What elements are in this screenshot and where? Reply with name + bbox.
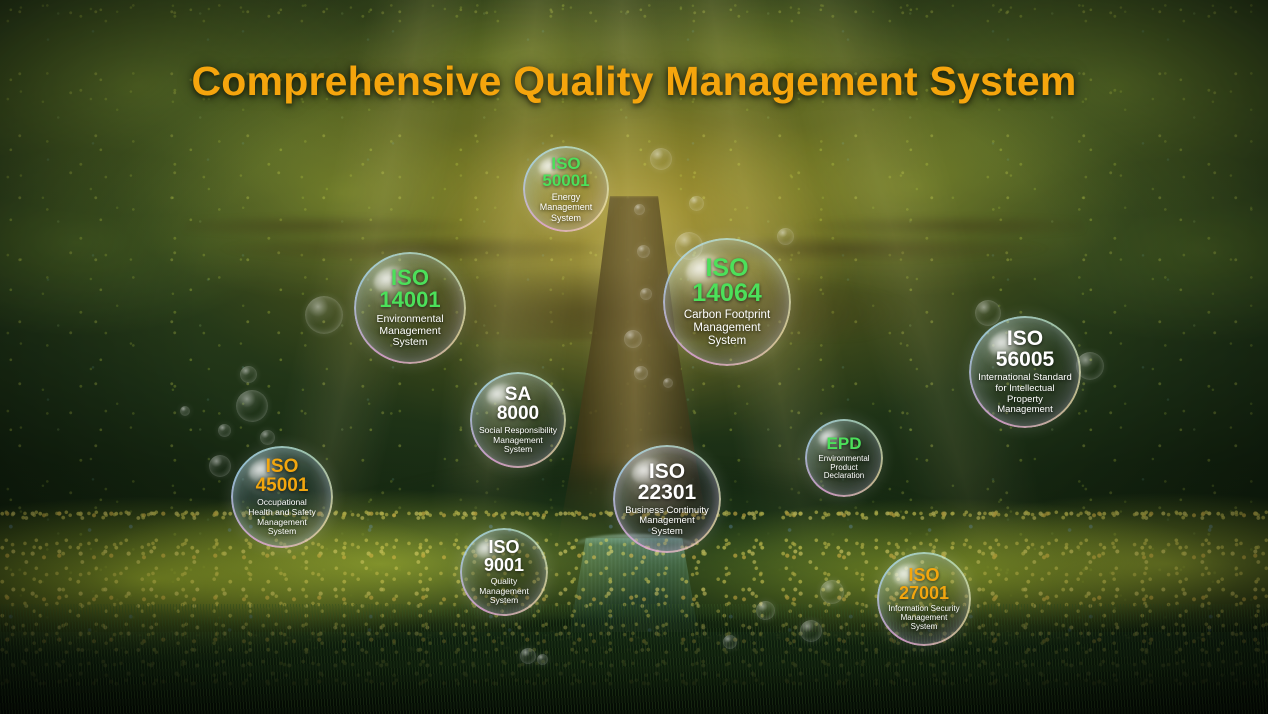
bubble-code: ISO45001 [256, 457, 309, 495]
decorative-bubble [777, 228, 794, 245]
decorative-bubble [218, 424, 231, 437]
decorative-bubble [236, 390, 268, 422]
bubble-code: ISO22301 [638, 461, 696, 503]
page-title: Comprehensive Quality Management System [0, 58, 1268, 105]
bubble-iso-27001[interactable]: ISO27001 Information Security Management… [877, 552, 971, 646]
decorative-bubble [634, 204, 645, 215]
bubble-code: ISO27001 [899, 566, 949, 602]
bubble-sa-8000[interactable]: SA8000 Social Responsibility Management … [470, 372, 566, 468]
decorative-bubble [260, 430, 275, 445]
decorative-bubble [820, 580, 844, 604]
bubble-description: International Standard for Intellectual … [972, 373, 1077, 416]
bubble-iso-14001[interactable]: ISO14001 Environmental Management System [354, 252, 466, 364]
bubble-iso-50001[interactable]: ISO50001 Energy Management System [523, 146, 609, 232]
bubble-iso-14064[interactable]: ISO14064 Carbon Footprint Management Sys… [663, 238, 791, 366]
decorative-bubble [756, 601, 775, 620]
bubble-description: Occupational Health and Safety Managemen… [242, 498, 322, 536]
bubble-epd[interactable]: EPD Environmental Product Declaration [805, 419, 883, 497]
infographic-scene: Comprehensive Quality Management System … [0, 0, 1268, 714]
bubble-code: ISO14064 [692, 256, 762, 306]
bubble-description: Carbon Footprint Management System [678, 309, 776, 348]
decorative-bubble [537, 654, 548, 665]
bubble-code: EPD [827, 435, 862, 452]
decorative-bubble [637, 245, 650, 258]
decorative-bubble [640, 288, 652, 300]
bubble-iso-56005[interactable]: ISO56005 International Standard for Inte… [969, 316, 1081, 428]
bubble-description: Social Responsibility Management System [473, 426, 563, 455]
bubble-description: Business Continuity Management System [619, 506, 714, 538]
foreground-grass [0, 604, 1268, 714]
decorative-bubble [800, 620, 822, 642]
decorative-bubble [624, 330, 642, 348]
bubble-description: Information Security Management System [882, 605, 965, 632]
bubble-description: Environmental Product Declaration [812, 455, 875, 482]
bubble-iso-45001[interactable]: ISO45001 Occupational Health and Safety … [231, 446, 333, 548]
bubble-iso-9001[interactable]: ISO9001 Quality Management System [460, 528, 548, 616]
decorative-bubble [650, 148, 672, 170]
bubble-code: ISO14001 [379, 267, 440, 311]
decorative-bubble [180, 406, 190, 416]
bubble-description: Quality Management System [473, 577, 535, 606]
bubble-iso-22301[interactable]: ISO22301 Business Continuity Management … [613, 445, 721, 553]
bubble-code: ISO56005 [996, 328, 1054, 370]
bubble-code: ISO50001 [542, 155, 589, 189]
bubble-code: ISO9001 [484, 538, 524, 574]
decorative-bubble [520, 648, 536, 664]
decorative-bubble [305, 296, 343, 334]
decorative-bubble [663, 378, 673, 388]
bubble-description: Energy Management System [534, 192, 599, 222]
decorative-bubble [209, 455, 231, 477]
bubble-code: SA8000 [497, 385, 539, 423]
decorative-bubble [240, 366, 257, 383]
decorative-bubble [634, 366, 648, 380]
bubble-description: Environmental Management System [370, 314, 449, 349]
decorative-bubble [723, 635, 737, 649]
decorative-bubble [689, 196, 704, 211]
